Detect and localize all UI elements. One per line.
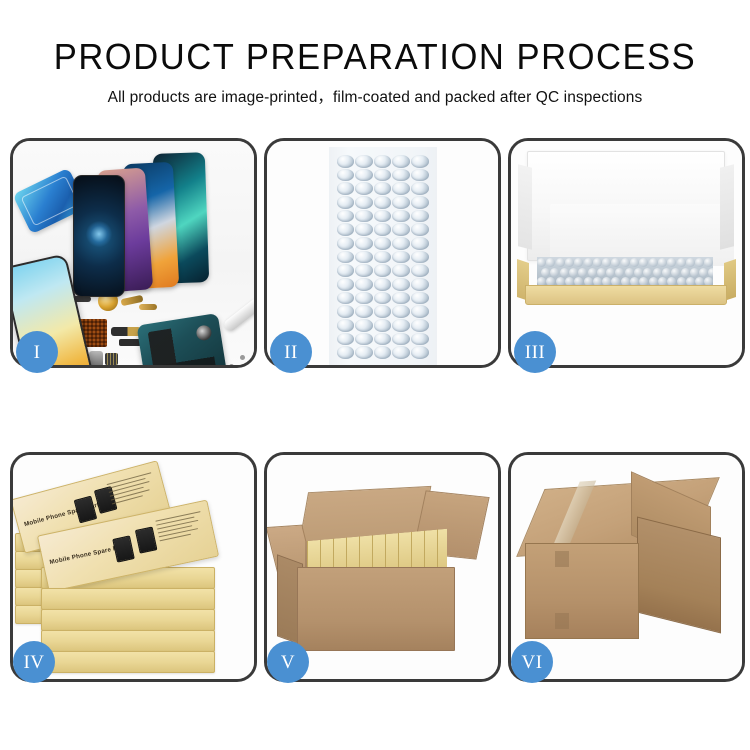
repair-tool-icon	[222, 297, 254, 334]
speaker-module-part	[89, 351, 103, 365]
phone-graphic-icon	[112, 535, 135, 562]
process-grid: I II	[0, 0, 750, 750]
front-box-slab	[41, 588, 215, 610]
process-step-5: V	[264, 452, 501, 682]
step-badge-6: VI	[511, 641, 553, 683]
step-badge-4: IV	[13, 641, 55, 683]
carton-front-panel	[297, 567, 455, 651]
bubble-grid	[337, 155, 429, 359]
step-badge-3: III	[514, 331, 556, 373]
phone-parts-collage	[13, 141, 254, 365]
carton-handle-tab-lower	[555, 613, 569, 629]
step-3-image	[511, 141, 742, 365]
box-front-panel	[525, 285, 727, 305]
front-box-slab	[41, 651, 215, 673]
box-lid-flap	[527, 151, 725, 261]
process-step-3: III	[508, 138, 745, 368]
phone-graphic-icon	[74, 496, 98, 524]
box-spec-lines	[107, 472, 158, 507]
step-badge-1: I	[16, 331, 58, 373]
phone-screen-dark	[73, 175, 125, 297]
chip-part	[105, 353, 118, 365]
carton-handle-tab-upper	[555, 551, 569, 567]
open-inner-box	[511, 141, 742, 365]
infographic-page: PRODUCT PREPARATION PROCESS All products…	[0, 0, 750, 750]
process-step-1: I	[10, 138, 257, 368]
front-box-slab	[41, 630, 215, 652]
step-4-image: Mobile Phone Spare Parts Mobile Phone Sp…	[13, 455, 254, 679]
carton-side-right	[637, 517, 721, 634]
process-step-4: Mobile Phone Spare Parts Mobile Phone Sp…	[10, 452, 257, 682]
step-1-image	[13, 141, 254, 365]
flex-cable-part-2	[139, 304, 157, 310]
flex-cable-part-4	[119, 339, 141, 346]
process-step-6: VI	[508, 452, 745, 682]
box-spec-lines	[155, 511, 205, 544]
step-badge-2: II	[270, 331, 312, 373]
front-box-slab	[41, 609, 215, 631]
step-2-image	[267, 141, 498, 365]
disassembled-phone	[136, 313, 227, 365]
process-step-2: II	[264, 138, 501, 368]
carton-front-face	[525, 543, 639, 639]
phone-graphic-icon	[135, 526, 158, 553]
box-contents-bubblewrap	[537, 257, 713, 287]
bubble-wrap-pouch	[329, 147, 437, 365]
stacked-retail-boxes: Mobile Phone Spare Parts Mobile Phone Sp…	[13, 455, 254, 679]
step-badge-5: V	[267, 641, 309, 683]
